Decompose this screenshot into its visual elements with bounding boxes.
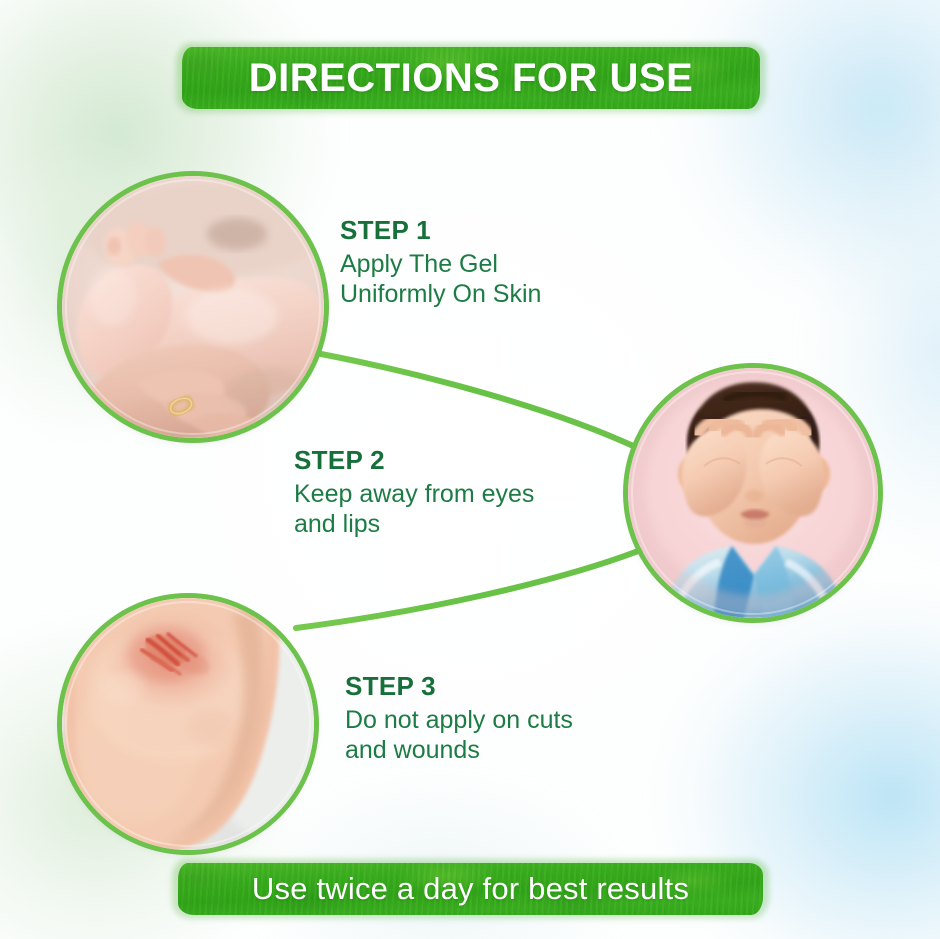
- footer-tagline: Use twice a day for best results: [252, 871, 689, 907]
- step-2-text-block: STEP 2 Keep away from eyes and lips: [294, 446, 534, 540]
- step-3-line-1: Do not apply on cuts: [345, 705, 573, 736]
- step-3-text-block: STEP 3 Do not apply on cuts and wounds: [345, 672, 573, 766]
- step-1-text-block: STEP 1 Apply The Gel Uniformly On Skin: [340, 216, 541, 310]
- step-1-line-1: Apply The Gel: [340, 249, 541, 280]
- step-1-image: [62, 176, 324, 438]
- step-3-image: [62, 598, 314, 850]
- step-2-line-1: Keep away from eyes: [294, 479, 534, 510]
- step-1-label: STEP 1: [340, 216, 541, 245]
- infographic-canvas: DIRECTIONS FOR USE: [0, 0, 940, 939]
- step-3-label: STEP 3: [345, 672, 573, 701]
- footer-banner: Use twice a day for best results: [178, 863, 763, 915]
- header-banner: DIRECTIONS FOR USE: [182, 47, 760, 109]
- step-2-label: STEP 2: [294, 446, 534, 475]
- step-2-image: [628, 368, 878, 618]
- step-1-line-2: Uniformly On Skin: [340, 279, 541, 310]
- child-covering-eyes-photo: [628, 368, 878, 618]
- step-3-line-2: and wounds: [345, 735, 573, 766]
- step-2-line-2: and lips: [294, 509, 534, 540]
- connector-step1-to-step2: [300, 350, 646, 452]
- scraped-knee-wound-photo: [62, 598, 314, 850]
- page-title: DIRECTIONS FOR USE: [249, 56, 694, 101]
- hand-applying-gel-to-baby-leg-photo: [62, 176, 324, 438]
- connector-step2-to-step3: [296, 548, 646, 628]
